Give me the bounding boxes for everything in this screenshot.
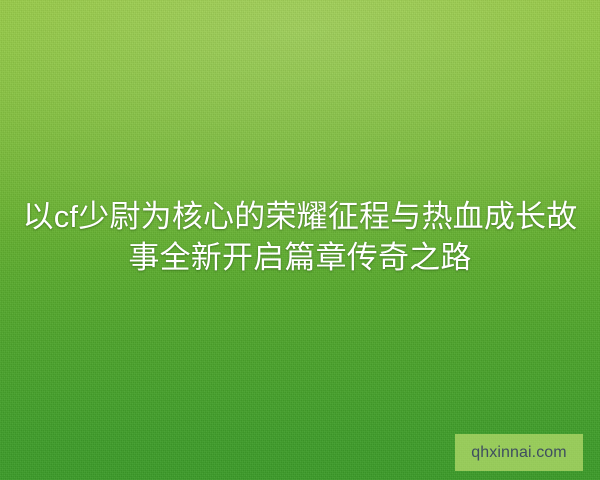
banner-headline: 以cf少尉为核心的荣耀征程与热血成长故事全新开启篇章传奇之路 — [0, 196, 600, 278]
watermark-text: qhxinnai.com — [471, 445, 566, 461]
banner-image: 以cf少尉为核心的荣耀征程与热血成长故事全新开启篇章传奇之路 qhxinnai.… — [0, 0, 600, 480]
watermark-badge: qhxinnai.com — [455, 434, 583, 471]
